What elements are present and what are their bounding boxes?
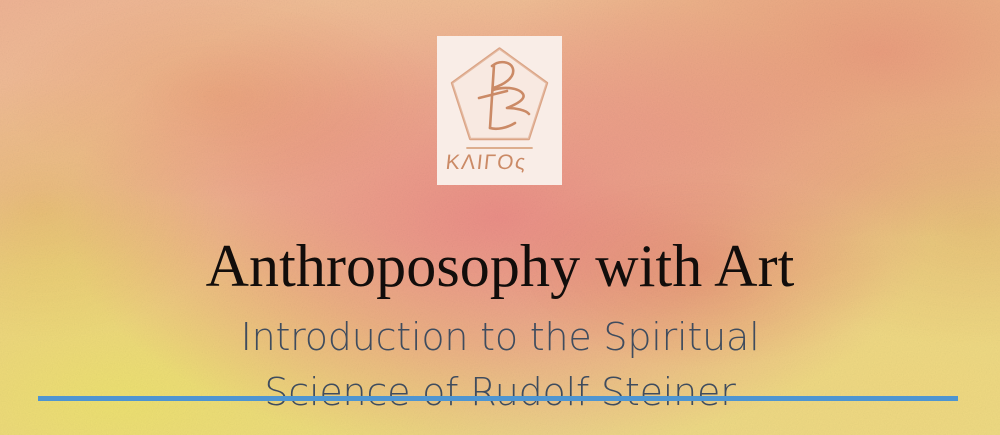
page-title: Anthroposophy with Art <box>0 236 1000 296</box>
divider-rule <box>38 396 958 401</box>
kairos-logo: ΚΛΙΓΟς <box>437 36 562 185</box>
page-subtitle: Introduction to the Spiritual Science of… <box>0 310 1000 422</box>
page-subtitle-line-2: Science of Rudolf Steiner <box>0 365 1000 421</box>
logo-wordmark: ΚΛΙΓΟς <box>445 151 528 174</box>
page-subtitle-line-1: Introduction to the Spiritual <box>0 310 1000 366</box>
course-title-banner: ΚΛΙΓΟς Anthroposophy with Art Introducti… <box>0 0 1000 435</box>
